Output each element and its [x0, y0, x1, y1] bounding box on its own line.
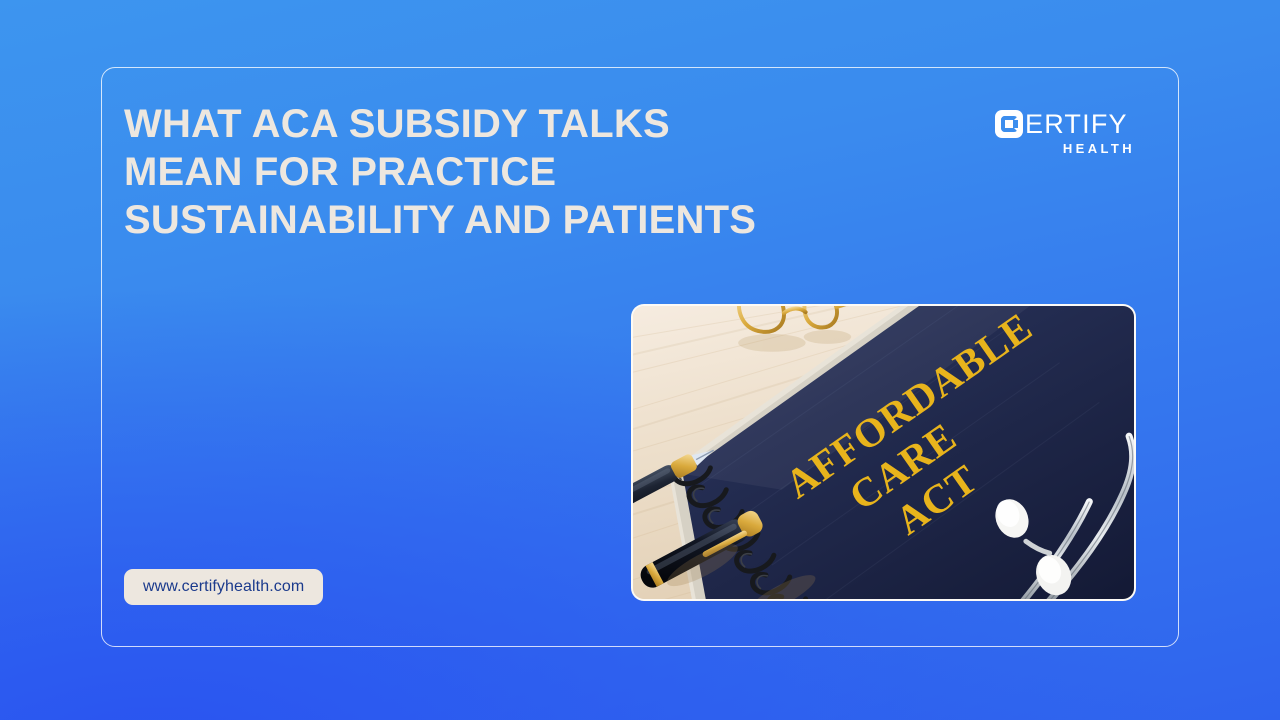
title-line-1: WHAT ACA SUBSIDY TALKS	[124, 100, 804, 148]
certify-c-mark-icon	[995, 110, 1023, 138]
title-line-3: SUSTAINABILITY AND PATIENTS	[124, 196, 804, 244]
slide-canvas: WHAT ACA SUBSIDY TALKS MEAN FOR PRACTICE…	[0, 0, 1280, 720]
logo-subtitle: HEALTH	[995, 141, 1137, 156]
website-url-label: www.certifyhealth.com	[143, 578, 304, 596]
title-line-2: MEAN FOR PRACTICE	[124, 148, 804, 196]
website-url-button[interactable]: www.certifyhealth.com	[124, 569, 323, 605]
logo-word: ERTIFY	[1025, 110, 1128, 138]
article-hero-image: AFFORDABLE CARE ACT	[631, 304, 1136, 601]
page-title: WHAT ACA SUBSIDY TALKS MEAN FOR PRACTICE…	[124, 100, 804, 244]
logo-wordmark-row: ERTIFY	[995, 108, 1137, 139]
affordable-care-act-photo: AFFORDABLE CARE ACT	[633, 306, 1134, 599]
certify-health-logo[interactable]: ERTIFY HEALTH	[995, 108, 1137, 156]
